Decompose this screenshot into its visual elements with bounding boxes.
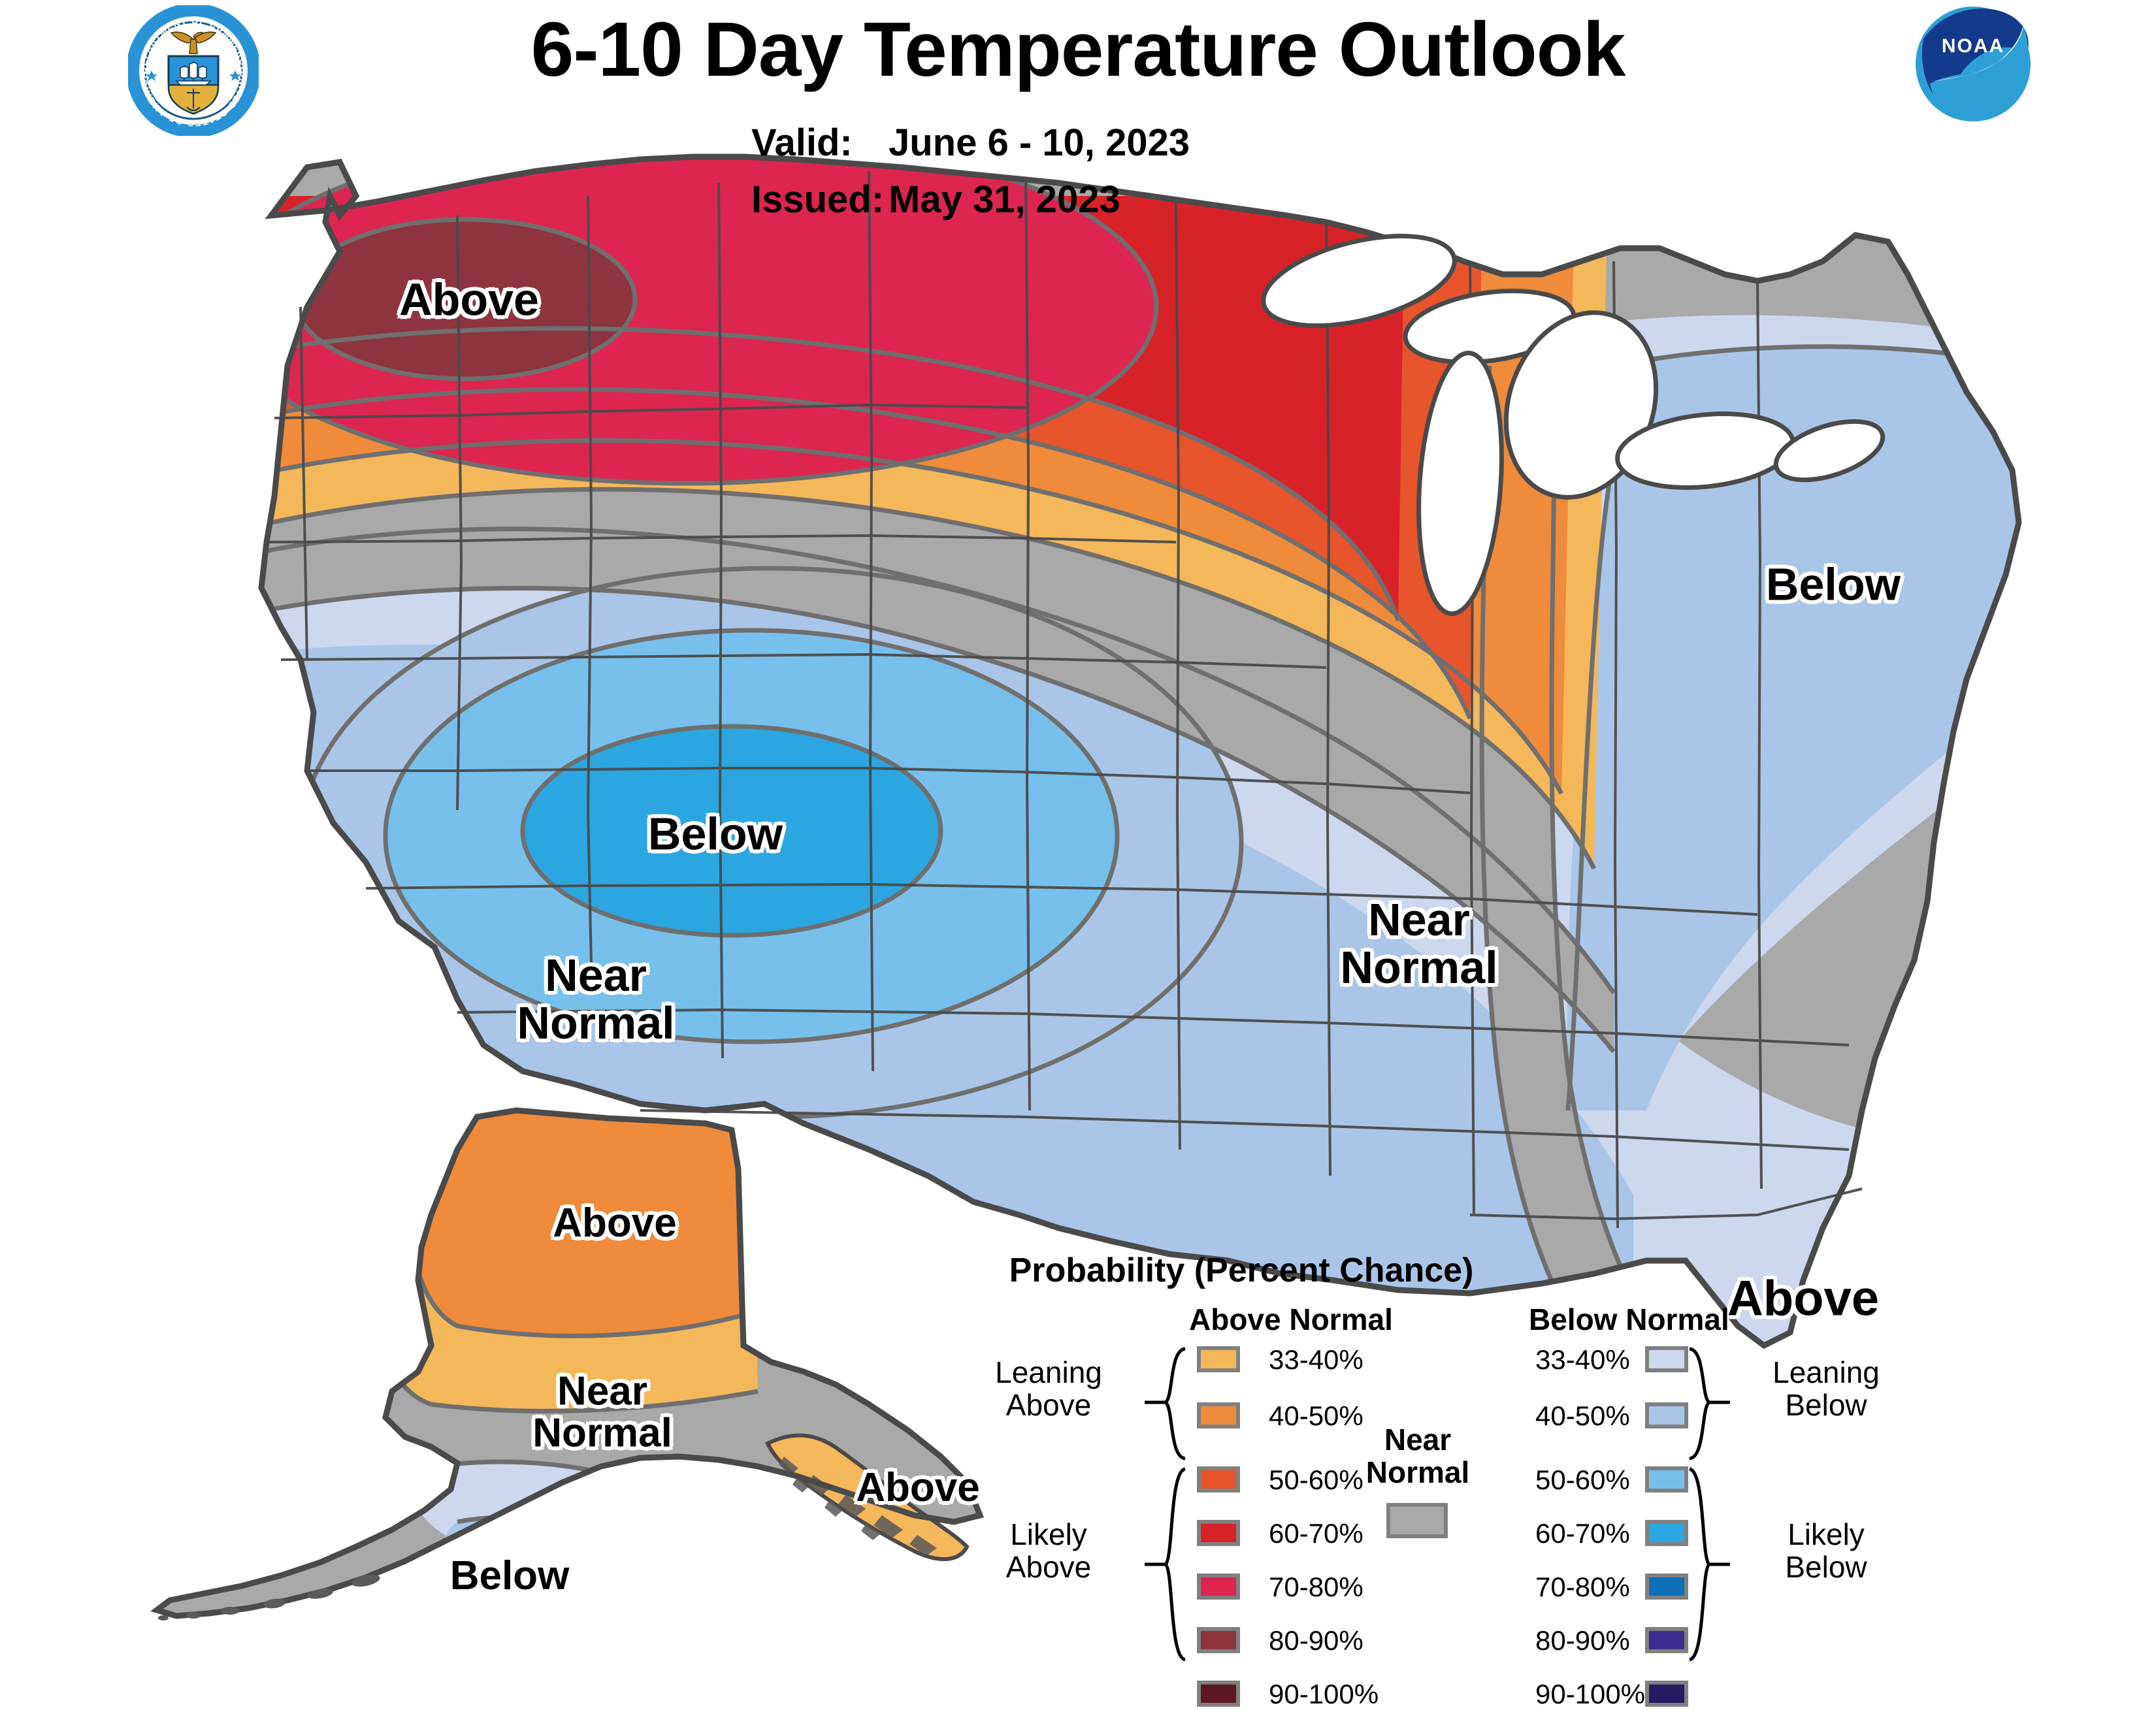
valid-value: June 6 - 10, 2023 bbox=[889, 121, 1190, 164]
page-title: 6-10 Day Temperature Outlook bbox=[0, 5, 2156, 94]
issued-label: Issued: bbox=[751, 178, 889, 221]
legend-swatch-above-40-50% bbox=[1197, 1402, 1240, 1428]
likely-below-brace bbox=[1686, 1466, 1731, 1662]
legend-leaning-below-label: Leaning Below bbox=[1738, 1357, 1914, 1421]
legend: Probability (Percent Chance) Above Norma… bbox=[947, 1251, 1947, 1656]
legend-near-normal-swatch bbox=[1386, 1503, 1448, 1538]
legend-range-above-70-80%: 70-80% bbox=[1269, 1572, 1364, 1603]
legend-range-above-50-60%: 50-60% bbox=[1269, 1464, 1364, 1496]
leaning-below-brace bbox=[1686, 1346, 1731, 1461]
map-label-alaska-above: Above bbox=[553, 1202, 676, 1244]
valid-line: Valid:June 6 - 10, 2023 bbox=[751, 121, 1190, 165]
likely-above-brace bbox=[1143, 1466, 1189, 1662]
legend-range-below-40-50%: 40-50% bbox=[1535, 1400, 1630, 1432]
legend-range-above-80-90%: 80-90% bbox=[1269, 1625, 1364, 1656]
legend-range-below-80-90%: 80-90% bbox=[1535, 1625, 1630, 1656]
issued-line: Issued:May 31, 2023 bbox=[751, 178, 1120, 221]
map-label-conus-near-normal-sw: Near Normal bbox=[517, 952, 674, 1047]
legend-range-below-33-40%: 33-40% bbox=[1535, 1344, 1630, 1376]
map-label-alaska-near-normal: Near Normal bbox=[532, 1371, 672, 1455]
legend-likely-above-label: Likely Above bbox=[960, 1519, 1137, 1583]
legend-swatch-below-70-80% bbox=[1645, 1573, 1688, 1600]
map-label-conus-below-ne: Below bbox=[1766, 561, 1901, 609]
legend-leaning-above-label: Leaning Above bbox=[960, 1357, 1137, 1421]
legend-below-header: Below Normal bbox=[1529, 1302, 1729, 1337]
legend-range-above-40-50%: 40-50% bbox=[1269, 1400, 1364, 1432]
legend-range-below-90-100%: 90-100% bbox=[1535, 1679, 1645, 1710]
legend-swatch-below-33-40% bbox=[1645, 1346, 1688, 1372]
legend-swatch-above-50-60% bbox=[1197, 1466, 1240, 1492]
map-label-conus-near-normal-c: Near Normal bbox=[1340, 896, 1497, 992]
legend-swatch-below-90-100% bbox=[1645, 1681, 1688, 1707]
legend-likely-below-label: Likely Below bbox=[1738, 1519, 1914, 1583]
legend-swatch-above-33-40% bbox=[1197, 1346, 1240, 1372]
issued-value: May 31, 2023 bbox=[889, 178, 1120, 221]
map-label-conus-below-basin: Below bbox=[648, 811, 783, 858]
leaning-above-brace bbox=[1143, 1346, 1189, 1461]
map-label-alaska-below: Below bbox=[450, 1555, 570, 1597]
legend-swatch-below-40-50% bbox=[1645, 1402, 1688, 1428]
legend-above-header: Above Normal bbox=[1189, 1302, 1393, 1337]
legend-title: Probability (Percent Chance) bbox=[947, 1251, 1535, 1290]
legend-swatch-below-80-90% bbox=[1645, 1627, 1688, 1653]
legend-range-below-70-80%: 70-80% bbox=[1535, 1572, 1630, 1603]
legend-range-above-33-40%: 33-40% bbox=[1269, 1344, 1364, 1376]
map-label-conus-above: Above bbox=[399, 276, 539, 324]
legend-range-below-60-70%: 60-70% bbox=[1535, 1518, 1630, 1549]
legend-swatch-above-60-70% bbox=[1197, 1520, 1240, 1546]
legend-near-normal-label: Near Normal bbox=[1352, 1424, 1483, 1489]
legend-swatch-above-90-100% bbox=[1197, 1681, 1240, 1707]
legend-range-above-90-100%: 90-100% bbox=[1269, 1679, 1379, 1710]
legend-range-below-50-60%: 50-60% bbox=[1535, 1464, 1630, 1496]
legend-range-above-60-70%: 60-70% bbox=[1269, 1518, 1364, 1549]
legend-swatch-below-60-70% bbox=[1645, 1520, 1688, 1546]
legend-swatch-above-80-90% bbox=[1197, 1627, 1240, 1653]
valid-label: Valid: bbox=[751, 121, 889, 165]
legend-swatch-below-50-60% bbox=[1645, 1466, 1688, 1492]
legend-swatch-above-70-80% bbox=[1197, 1573, 1240, 1600]
